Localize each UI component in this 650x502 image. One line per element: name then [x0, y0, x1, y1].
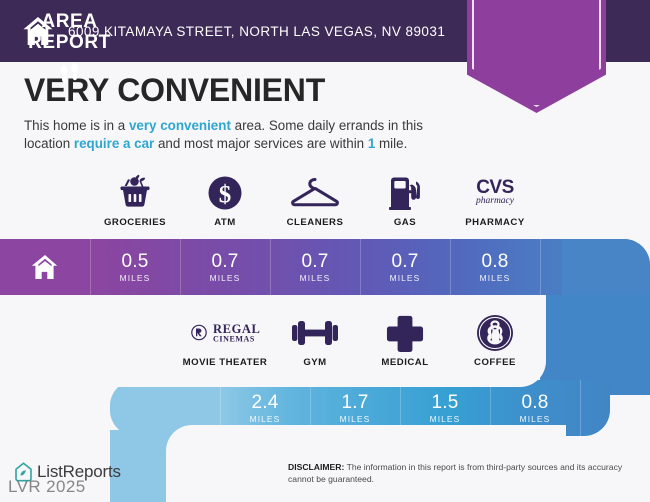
- distance-unit: MILES: [250, 414, 281, 424]
- distance-unit: MILES: [340, 414, 371, 424]
- cvs-pharmacy-logo-icon: CVS pharmacy: [464, 171, 526, 215]
- dumbbell-icon: [290, 311, 340, 355]
- shopping-basket-icon: [114, 171, 156, 215]
- starbucks-logo-icon: [475, 311, 515, 355]
- area-report-infographic: 6009 KITAMAYA STREET, NORTH LAS VEGAS, N…: [0, 0, 650, 502]
- category-gas: GAS: [360, 171, 450, 239]
- category-label: GAS: [394, 217, 416, 228]
- distance-value: 0.7: [301, 252, 328, 272]
- distance-value: 0.7: [391, 252, 418, 272]
- category-label: PHARMACY: [465, 217, 524, 228]
- distance-value: 0.8: [521, 393, 548, 413]
- category-cleaners: CLEANERS: [270, 171, 360, 239]
- summary-part-1: This home is in a: [24, 118, 129, 133]
- svg-text:pharmacy: pharmacy: [475, 196, 515, 206]
- distance-unit: MILES: [480, 273, 511, 283]
- disclaimer: DISCLAIMER: The information in this repo…: [288, 462, 630, 485]
- icon-row-secondary: REGAL CINEMAS MOVIE THEATER GYM: [0, 311, 650, 379]
- clothes-hanger-icon: [290, 171, 340, 215]
- distance-unit: MILES: [390, 273, 421, 283]
- category-label: ATM: [214, 217, 236, 228]
- distance-cell: 0.7 MILES: [270, 239, 360, 295]
- category-atm: $ ATM: [180, 171, 270, 239]
- disclaimer-label: DISCLAIMER:: [288, 462, 344, 472]
- distance-value: 2.4: [251, 393, 278, 413]
- svg-text:CINEMAS: CINEMAS: [213, 335, 255, 344]
- category-medical: MEDICAL: [360, 311, 450, 379]
- dollar-circle-icon: $: [205, 171, 245, 215]
- category-groceries: GROCERIES: [90, 171, 180, 239]
- category-label: GROCERIES: [104, 217, 166, 228]
- regal-cinemas-logo-icon: REGAL CINEMAS: [189, 311, 261, 355]
- category-label: CLEANERS: [287, 217, 344, 228]
- summary-highlight-1: very convenient: [129, 118, 231, 133]
- badge-line-2: REPORT: [0, 32, 139, 53]
- summary-highlight-2: require a car: [74, 136, 154, 151]
- distance-unit: MILES: [300, 273, 331, 283]
- distance-cell: 0.7 MILES: [180, 239, 270, 295]
- distance-unit: MILES: [430, 414, 461, 424]
- category-movie-theater: REGAL CINEMAS MOVIE THEATER: [180, 311, 270, 379]
- distance-value: 0.8: [481, 252, 508, 272]
- svg-text:CVS: CVS: [476, 177, 514, 198]
- category-label: COFFEE: [474, 357, 516, 368]
- home-icon: [31, 254, 59, 280]
- medical-cross-icon: [386, 311, 424, 355]
- footprints-icon: [57, 62, 83, 88]
- summary-text: This home is in a very convenient area. …: [24, 117, 454, 152]
- distance-cell: 0.5 MILES: [90, 239, 180, 295]
- distance-cell: 0.7 MILES: [360, 239, 450, 295]
- category-label: GYM: [303, 357, 326, 368]
- badge-inner-border: [472, 0, 601, 107]
- badge-line-1: AREA: [0, 11, 139, 32]
- category-gym: GYM: [270, 311, 360, 379]
- distance-unit: MILES: [120, 273, 151, 283]
- distance-value: 0.7: [211, 252, 238, 272]
- category-label: MEDICAL: [381, 357, 428, 368]
- distance-value: 0.5: [121, 252, 148, 272]
- summary-part-3: and most major services are within: [154, 136, 368, 151]
- distance-bar-primary: 0.5 MILES 0.7 MILES 0.7 MILES 0.7 MILES …: [0, 239, 650, 295]
- distance-cells-primary: 0.5 MILES 0.7 MILES 0.7 MILES 0.7 MILES …: [0, 239, 650, 295]
- gas-pump-icon: [385, 171, 425, 215]
- distance-unit: MILES: [520, 414, 551, 424]
- distance-unit: MILES: [210, 273, 241, 283]
- category-pharmacy: CVS pharmacy PHARMACY: [450, 171, 540, 239]
- category-label: MOVIE THEATER: [183, 357, 268, 368]
- watermark-text: LVR 2025: [8, 477, 86, 497]
- distance-value: 1.7: [341, 393, 368, 413]
- svg-text:$: $: [219, 182, 232, 209]
- icon-row-primary: GROCERIES $ ATM CLEANERS: [0, 171, 650, 239]
- badge-label: AREA REPORT: [0, 11, 139, 53]
- category-coffee: COFFEE: [450, 311, 540, 379]
- summary-part-4: mile.: [375, 136, 407, 151]
- distance-cell: 0.8 MILES: [450, 239, 540, 295]
- distance-value: 1.5: [431, 393, 458, 413]
- area-report-badge: [467, 0, 606, 113]
